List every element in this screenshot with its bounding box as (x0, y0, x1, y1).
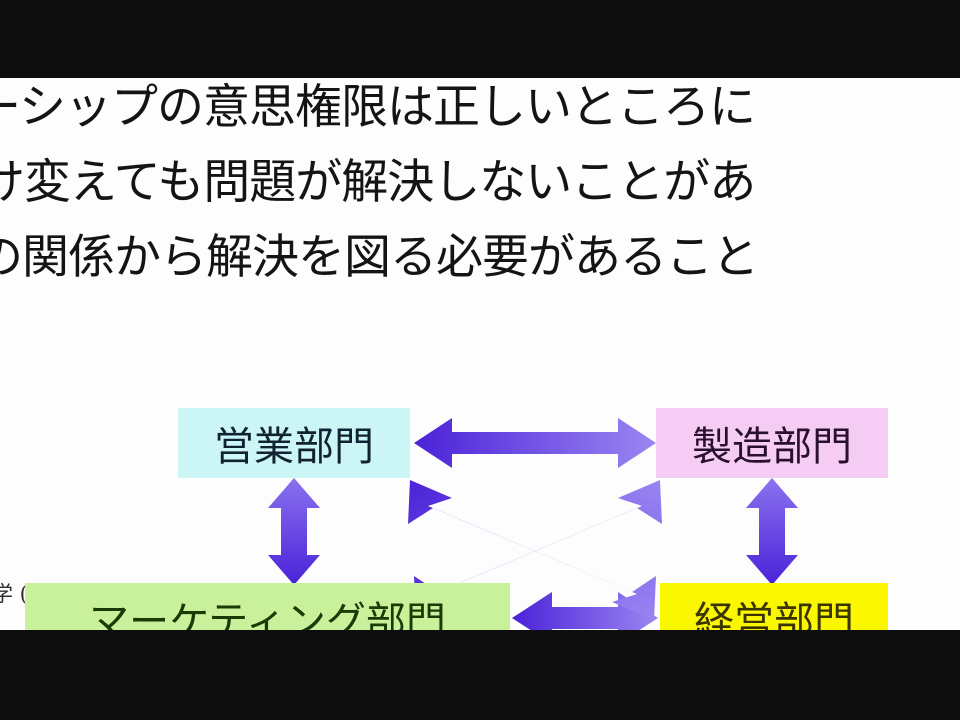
video-frame: ーシップの意思権限は正しいところに け変えても問題が解決しないことがあ の関係か… (0, 0, 960, 720)
department-relationship-diagram: 営業部門 製造部門 マーケティング部門 経営部門 (0, 310, 960, 630)
arrow-manufacturing-management (746, 478, 798, 585)
node-manufacturing[interactable]: 製造部門 (656, 408, 888, 478)
node-sales[interactable]: 営業部門 (178, 408, 410, 478)
node-marketing[interactable]: マーケティング部門 (25, 583, 510, 630)
heading-line-1: ーシップの意思権限は正しいところに (0, 84, 755, 131)
heading-line-3: の関係から解決を図る必要があること (0, 234, 758, 281)
heading-line-2: け変えても問題が解決しないことがあ (0, 159, 755, 206)
letterbox-bar-top (0, 0, 960, 78)
arrow-sales-manufacturing (414, 418, 656, 468)
arrow-sales-marketing (268, 478, 320, 585)
slide-content: ーシップの意思権限は正しいところに け変えても問題が解決しないことがあ の関係か… (0, 78, 960, 630)
letterbox-bar-bottom (0, 630, 960, 720)
node-management[interactable]: 経営部門 (660, 583, 888, 630)
